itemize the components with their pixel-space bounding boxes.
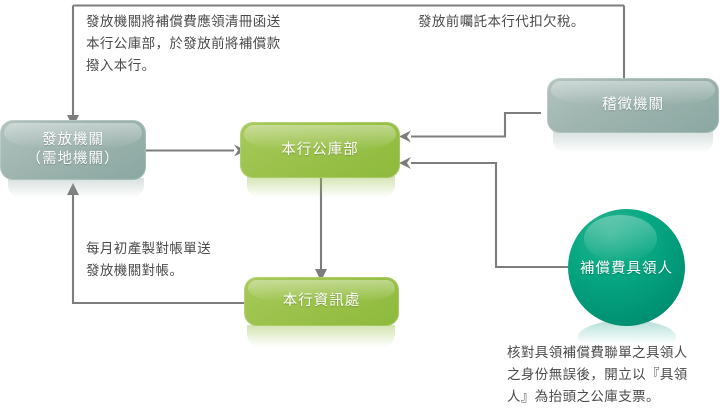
node-treasury-dept[interactable]: 本行公庫部 bbox=[240, 122, 400, 178]
node-compensation-payee[interactable]: 補償費具領人 bbox=[568, 209, 685, 326]
arrowhead-into-treasury-lower bbox=[399, 157, 411, 169]
wire-payee-to-treasury bbox=[411, 163, 569, 267]
wire-tax-authority-to-treasury bbox=[411, 113, 541, 137]
note-tax-withholding: 發放前囑託本行代扣欠稅。 bbox=[418, 11, 648, 33]
node-issuing-agency[interactable]: 發放機關 （需地機關） bbox=[0, 120, 146, 180]
arrowhead-into-issuing-agency-bottom bbox=[67, 183, 79, 195]
arrowhead-into-treasury-upper bbox=[399, 131, 411, 143]
circle-gloss bbox=[584, 215, 657, 262]
node-issuing-agency-label: 發放機關 （需地機關） bbox=[27, 131, 120, 169]
node-treasury-dept-label: 本行公庫部 bbox=[281, 141, 359, 160]
note-issuing-to-treasury: 發放機關將補償費應領清冊函送 本行公庫部，於發放前將補償款 撥入本行。 bbox=[86, 11, 386, 77]
node-tax-authority-label: 稽徵機關 bbox=[602, 96, 664, 115]
node-it-dept[interactable]: 本行資訊處 bbox=[244, 277, 399, 326]
note-monthly-statement: 每月初產製對帳單送 發放機關對帳。 bbox=[86, 238, 311, 282]
node-compensation-payee-label: 補償費具領人 bbox=[580, 257, 673, 278]
node-tax-authority[interactable]: 稽徵機關 bbox=[547, 78, 719, 133]
note-payee-verification: 核對具領補償費聯單之具領人 之身份無誤後，開立以『具領 人』為抬頭之公庫支票。 bbox=[507, 342, 725, 408]
node-it-dept-label: 本行資訊處 bbox=[283, 292, 361, 311]
flowchart-canvas: 發放機關將補償費應領清冊函送 本行公庫部，於發放前將補償款 撥入本行。 發放前囑… bbox=[0, 0, 725, 408]
